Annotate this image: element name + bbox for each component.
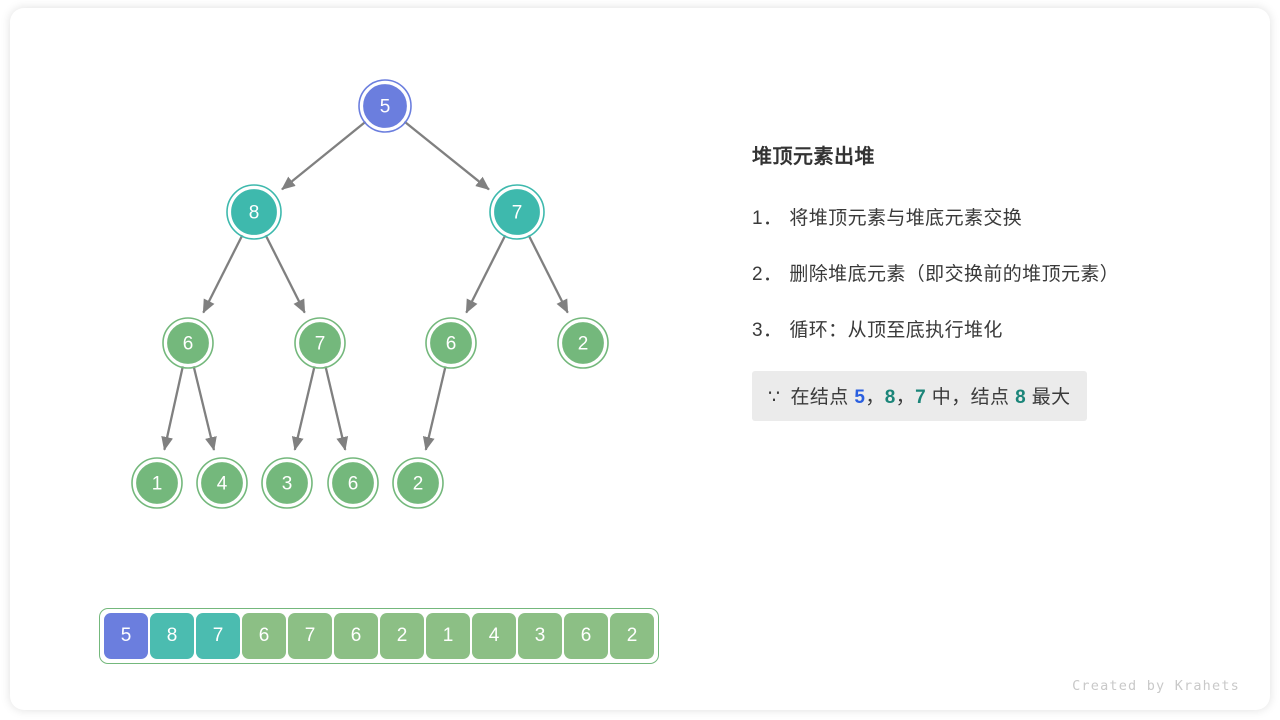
note-callout: ∵在结点 5，8，7 中，结点 8 最大 <box>752 371 1087 421</box>
tree-node[interactable]: 6 <box>426 318 476 368</box>
tree-node-label: 2 <box>413 474 424 495</box>
tree-node-label: 2 <box>578 334 589 355</box>
tree-node[interactable]: 7 <box>490 185 544 239</box>
array-cell[interactable]: 1 <box>426 613 470 659</box>
tree-node[interactable]: 4 <box>197 458 247 508</box>
step-number-1: 1． <box>752 208 782 229</box>
explanation-panel: 堆顶元素出堆 1．将堆顶元素与堆底元素交换 2．删除堆底元素（即交换前的堆顶元素… <box>752 140 1222 421</box>
tree-edge <box>295 366 315 450</box>
note-value-1: 5 <box>854 387 865 408</box>
heap-array: 587676214362 <box>99 608 659 664</box>
step-number-2: 2． <box>752 264 782 285</box>
array-cell[interactable]: 7 <box>288 613 332 659</box>
tree-node-label: 5 <box>380 97 391 118</box>
step-item-1: 1．将堆顶元素与堆底元素交换 <box>752 203 1222 230</box>
diagram-card: 587676214362 587676214362 堆顶元素出堆 1．将堆顶元素… <box>10 8 1270 710</box>
tree-edges <box>164 122 567 450</box>
tree-node[interactable]: 3 <box>262 458 312 508</box>
note-sep-2: ， <box>896 387 915 408</box>
tree-node-label: 6 <box>348 474 359 495</box>
note-middle: 中，结点 <box>932 387 1010 408</box>
note-value-2: 8 <box>885 387 896 408</box>
step-text-2: 删除堆底元素（即交换前的堆顶元素） <box>789 264 1119 285</box>
tree-edge <box>282 122 366 190</box>
array-cell[interactable]: 3 <box>518 613 562 659</box>
array-cell[interactable]: 4 <box>472 613 516 659</box>
tree-edge <box>466 235 505 312</box>
array-cell[interactable]: 2 <box>380 613 424 659</box>
because-symbol-icon: ∵ <box>768 387 781 408</box>
note-prefix: 在结点 <box>791 387 849 408</box>
binary-heap-tree: 587676214362 <box>10 8 730 568</box>
tree-edge <box>326 366 346 450</box>
array-cell[interactable]: 6 <box>242 613 286 659</box>
array-cell[interactable]: 5 <box>104 613 148 659</box>
tree-edge <box>426 366 446 450</box>
step-text-3: 循环：从顶至底执行堆化 <box>789 320 1002 341</box>
tree-node-label: 1 <box>152 474 163 495</box>
step-item-3: 3．循环：从顶至底执行堆化 <box>752 315 1222 342</box>
note-value-4: 8 <box>1015 387 1026 408</box>
tree-node[interactable]: 7 <box>295 318 345 368</box>
tree-edge <box>164 366 182 449</box>
step-text-1: 将堆顶元素与堆底元素交换 <box>789 208 1022 229</box>
note-value-3: 7 <box>915 387 926 408</box>
array-cell[interactable]: 6 <box>564 613 608 659</box>
tree-node-label: 7 <box>512 203 523 224</box>
array-cell[interactable]: 8 <box>150 613 194 659</box>
tree-node[interactable]: 6 <box>328 458 378 508</box>
tree-node[interactable]: 2 <box>558 318 608 368</box>
tree-node[interactable]: 5 <box>359 80 411 132</box>
array-cell[interactable]: 7 <box>196 613 240 659</box>
array-cell[interactable]: 2 <box>610 613 654 659</box>
note-suffix: 最大 <box>1032 387 1071 408</box>
tree-node[interactable]: 2 <box>393 458 443 508</box>
step-number-3: 3． <box>752 320 782 341</box>
tree-node-label: 8 <box>249 203 260 224</box>
array-cell[interactable]: 6 <box>334 613 378 659</box>
tree-node-label: 4 <box>217 474 228 495</box>
tree-edge <box>529 235 568 312</box>
step-item-2: 2．删除堆底元素（即交换前的堆顶元素） <box>752 259 1222 286</box>
tree-edge <box>404 122 488 190</box>
note-sep-1: ， <box>865 387 884 408</box>
tree-edge <box>266 235 305 312</box>
tree-node-label: 7 <box>315 334 326 355</box>
tree-node-label: 3 <box>282 474 293 495</box>
watermark-credit: Created by Krahets <box>1072 678 1240 694</box>
tree-node-label: 6 <box>183 334 194 355</box>
tree-node[interactable]: 8 <box>227 185 281 239</box>
tree-node-label: 6 <box>446 334 457 355</box>
tree-edge <box>203 235 242 312</box>
tree-node[interactable]: 6 <box>163 318 213 368</box>
page-title: 堆顶元素出堆 <box>752 140 1222 169</box>
tree-edge <box>194 366 214 450</box>
tree-node[interactable]: 1 <box>132 458 182 508</box>
tree-nodes: 587676214362 <box>132 80 608 508</box>
